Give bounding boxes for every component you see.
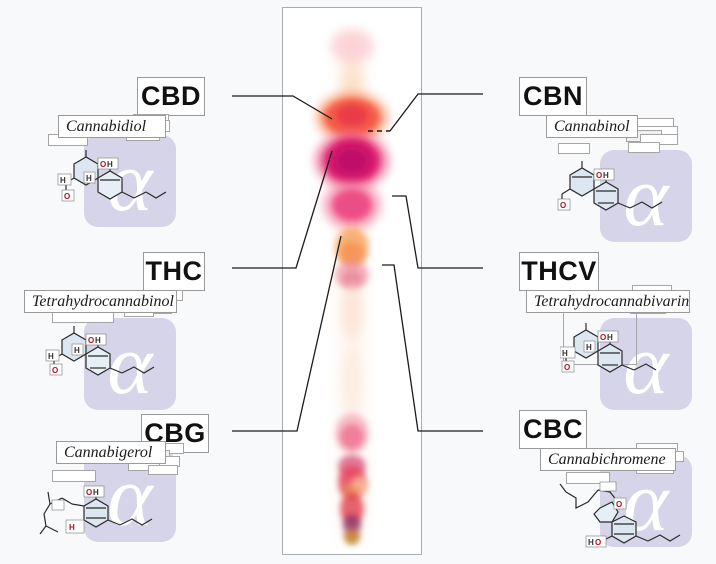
molecule-thc: OH H H O [40, 322, 185, 384]
label-name-cbn: Cannabinol [546, 115, 638, 138]
svg-text:O: O [560, 201, 566, 210]
label-box-cbn: CBN [519, 77, 587, 116]
molecule-cbd: OH H H O [40, 148, 180, 210]
molecule-cbc: O HO [556, 478, 701, 554]
band-pink-mid [332, 189, 371, 221]
label-name-cbd: Cannabidiol [58, 115, 166, 138]
label-box-cbc: CBC [519, 410, 587, 449]
tlc-plate [282, 7, 422, 555]
artifact-box-cbn-5 [628, 142, 660, 153]
molecule-thcv: OH H H O [560, 315, 700, 377]
svg-text:O: O [564, 363, 570, 372]
band-lower-streak [342, 349, 362, 412]
tlc-lane-bands [283, 8, 421, 554]
svg-text:H: H [607, 333, 613, 342]
band-top-faint-pink [330, 30, 373, 64]
artifact-box-cbg-5 [148, 465, 178, 475]
svg-text:O: O [616, 500, 622, 509]
band-faint-streak [341, 284, 363, 339]
label-box-thc: THC [143, 252, 205, 291]
svg-text:O: O [64, 192, 70, 201]
svg-text:O: O [600, 333, 606, 342]
svg-text:H: H [603, 171, 609, 180]
svg-text:H: H [95, 336, 101, 345]
svg-text:O: O [88, 336, 94, 345]
svg-text:H: H [60, 176, 66, 185]
svg-text:O: O [596, 171, 602, 180]
svg-text:H: H [586, 343, 592, 352]
svg-text:H: H [93, 488, 99, 497]
svg-text:H: H [588, 538, 594, 547]
svg-text:H: H [69, 523, 75, 532]
svg-text:O: O [52, 366, 58, 375]
svg-text:H: H [562, 349, 568, 358]
svg-text:H: H [86, 174, 92, 183]
molecule-cbg: OH H [36, 478, 181, 548]
artifact-box-cbn-6 [558, 143, 590, 154]
svg-text:O: O [100, 160, 106, 169]
molecule-cbn: OH O [556, 155, 696, 217]
svg-text:H: H [48, 352, 54, 361]
label-name-thcv: Tetrahydrocannabivarin [526, 290, 690, 313]
svg-text:H: H [107, 160, 113, 169]
label-name-thc: Tetrahydrocannabinol [24, 290, 177, 313]
label-box-cbd: CBD [137, 77, 205, 116]
band-cbg-pink [340, 424, 364, 450]
svg-text:O: O [595, 538, 601, 547]
svg-text:H: H [74, 346, 80, 355]
label-name-cbc: Cannabichromene [540, 448, 676, 471]
svg-text:O: O [86, 488, 92, 497]
label-name-cbg: Cannabigerol [56, 441, 166, 464]
figure-canvas: α CBD Cannabidiol OH H H O α [0, 0, 716, 564]
label-box-thcv: THCV [519, 252, 599, 291]
